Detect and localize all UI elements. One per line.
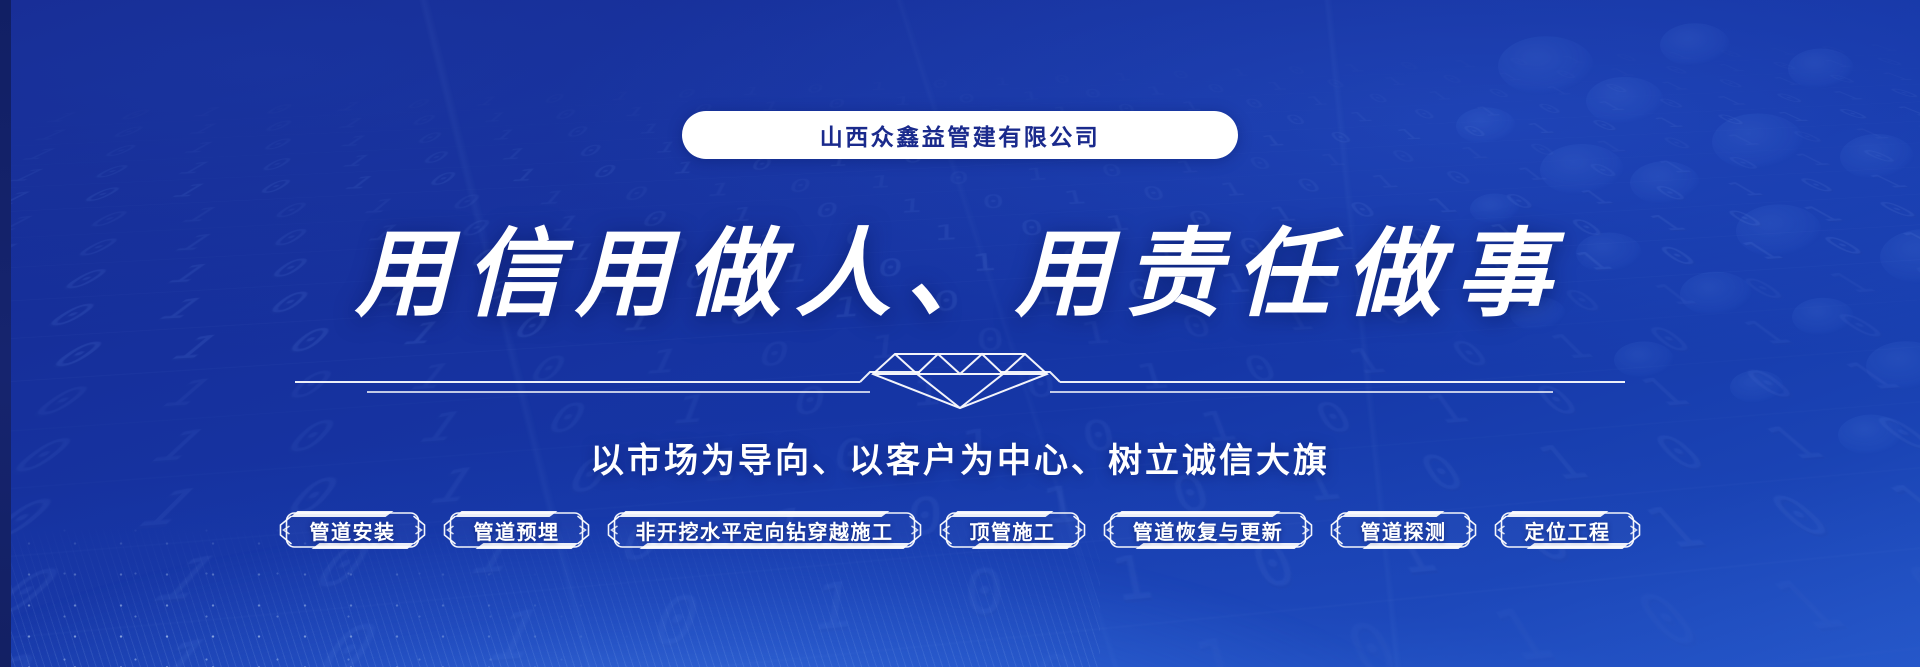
company-name-label: 山西众鑫益管建有限公司 <box>820 118 1101 152</box>
service-tag-2[interactable]: 管道预埋 <box>442 508 592 552</box>
service-tag-1[interactable]: 管道安装 <box>278 508 428 552</box>
service-tag-label: 顶管施工 <box>970 516 1056 545</box>
headline-slogan: 用信用做人、用责任做事 <box>355 196 1565 335</box>
service-tag-label: 管道预埋 <box>474 516 560 545</box>
headline-text: 用信用做人、用责任做事 <box>355 196 1565 335</box>
service-tag-label: 管道安装 <box>310 516 396 545</box>
service-tag-label: 管道恢复与更新 <box>1133 516 1284 545</box>
service-tag-6[interactable]: 管道探测 <box>1329 508 1479 552</box>
subtitle-text: 以市场为导向、以客户为中心、树立诚信大旗 <box>590 442 1330 480</box>
diamond-divider <box>295 352 1625 410</box>
service-tag-row: 管道安装 管道预埋 非开挖水平定向钻穿越施工 顶管施 <box>278 508 1643 552</box>
company-name-pill: 山西众鑫益管建有限公司 <box>682 111 1238 159</box>
service-tag-7[interactable]: 定位工程 <box>1493 508 1643 552</box>
service-tag-label: 非开挖水平定向钻穿越施工 <box>636 516 894 545</box>
service-tag-4[interactable]: 顶管施工 <box>938 508 1088 552</box>
service-tag-3[interactable]: 非开挖水平定向钻穿越施工 <box>606 508 924 552</box>
banner-content: 山西众鑫益管建有限公司 用信用做人、用责任做事 <box>0 0 1920 667</box>
promotional-banner: 1 0 1 0 1 0 1 0 1 0 1 0 1 0 1 0 1 0 1 0 … <box>0 0 1920 667</box>
subtitle-slogan: 以市场为导向、以客户为中心、树立诚信大旗 <box>590 433 1330 482</box>
service-tag-label: 定位工程 <box>1525 516 1611 545</box>
service-tag-label: 管道探测 <box>1361 516 1447 545</box>
diamond-gem-icon <box>873 354 1047 408</box>
left-edge-strip <box>0 0 11 667</box>
service-tag-5[interactable]: 管道恢复与更新 <box>1102 508 1315 552</box>
